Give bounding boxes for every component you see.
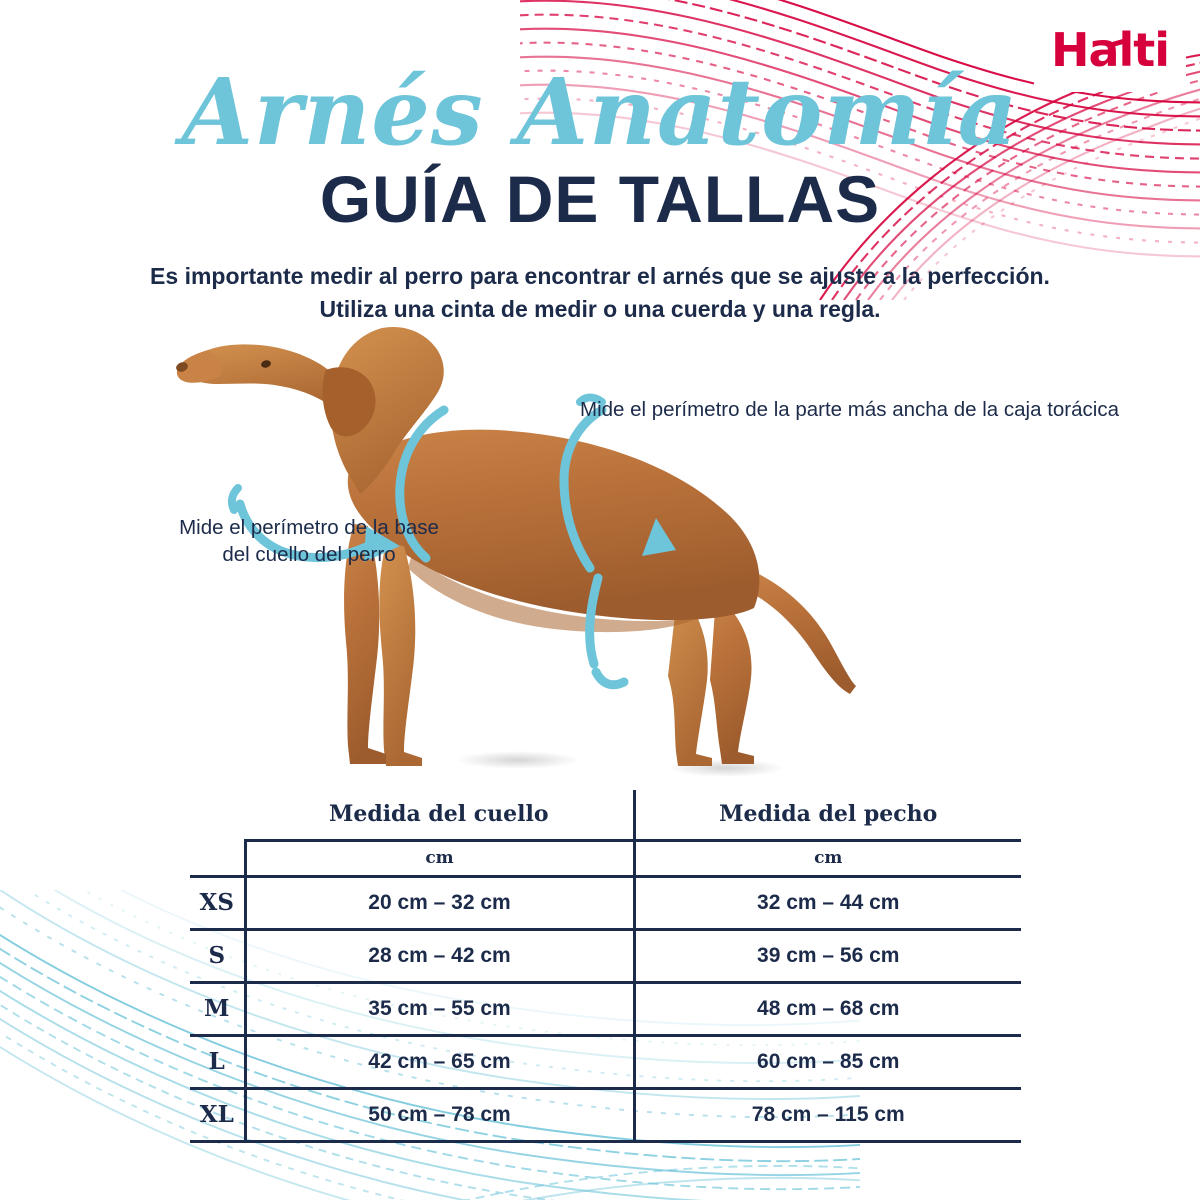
callout-neck: Mide el perímetro de la base del cuello …	[178, 514, 440, 569]
table-row: M 35 cm – 55 cm 48 cm – 68 cm	[190, 982, 1021, 1035]
intro-line-1: Es importante medir al perro para encont…	[100, 260, 1100, 293]
cell-size: M	[190, 982, 245, 1035]
header-neck-unit: cm	[245, 840, 634, 876]
intro-line-2: Utiliza una cinta de medir o una cuerda …	[100, 293, 1100, 326]
cell-neck: 35 cm – 55 cm	[245, 982, 634, 1035]
brand-wordmark: Halti	[1051, 23, 1169, 77]
header-neck-group: Medida del cuello	[245, 790, 634, 840]
cell-neck: 28 cm – 42 cm	[245, 929, 634, 982]
size-guide-infographic: Halti Arnés Anatomía GUÍA DE TALLAS Es i…	[0, 0, 1200, 1200]
cell-neck: 42 cm – 65 cm	[245, 1035, 634, 1088]
page-title: GUÍA DE TALLAS	[0, 166, 1200, 233]
cell-neck: 50 cm – 78 cm	[245, 1088, 634, 1141]
brand-logo: Halti	[1034, 8, 1186, 92]
cell-chest: 48 cm – 68 cm	[634, 982, 1021, 1035]
cell-chest: 39 cm – 56 cm	[634, 929, 1021, 982]
table-body: XS 20 cm – 32 cm 32 cm – 44 cm S 28 cm –…	[190, 876, 1021, 1141]
header-chest-group: Medida del pecho	[634, 790, 1021, 840]
cell-size: XS	[190, 876, 245, 929]
script-title: Arnés Anatomía	[0, 66, 1200, 158]
table-group-header-row: Medida del cuello Medida del pecho	[190, 790, 1021, 840]
cell-chest: 32 cm – 44 cm	[634, 876, 1021, 929]
cell-size: S	[190, 929, 245, 982]
table-row: XS 20 cm – 32 cm 32 cm – 44 cm	[190, 876, 1021, 929]
brand-strike-accent	[1109, 37, 1131, 48]
table-unit-header-row: cm cm	[190, 840, 1021, 876]
table-row: L 42 cm – 65 cm 60 cm – 85 cm	[190, 1035, 1021, 1088]
table-row: XL 50 cm – 78 cm 78 cm – 115 cm	[190, 1088, 1021, 1141]
header-size-unit	[190, 840, 245, 876]
callout-chest: Mide el perímetro de la parte más ancha …	[580, 396, 1119, 423]
size-table: Medida del cuello Medida del pecho cm cm…	[190, 790, 1021, 1143]
cell-chest: 60 cm – 85 cm	[634, 1035, 1021, 1088]
cell-size: XL	[190, 1088, 245, 1141]
cell-size: L	[190, 1035, 245, 1088]
intro-text: Es importante medir al perro para encont…	[100, 260, 1100, 325]
header-chest-unit: cm	[634, 840, 1021, 876]
table-row: S 28 cm – 42 cm 39 cm – 56 cm	[190, 929, 1021, 982]
cell-neck: 20 cm – 32 cm	[245, 876, 634, 929]
cell-chest: 78 cm – 115 cm	[634, 1088, 1021, 1141]
header-size-group	[190, 790, 245, 840]
